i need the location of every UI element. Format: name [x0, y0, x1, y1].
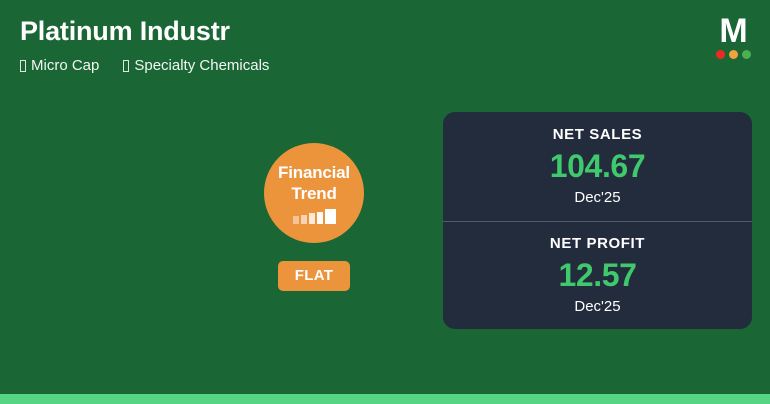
- tag-market-cap: Micro Cap: [20, 57, 99, 74]
- trend-bar: [309, 213, 315, 224]
- stat-period: Dec'25: [574, 298, 620, 316]
- logo-letter-m: M: [711, 16, 755, 46]
- status-badge: FLAT: [278, 261, 350, 291]
- header: Platinum Industr Micro Cap Specialty Che…: [0, 0, 770, 96]
- trend-title-line-1: Financial: [278, 162, 350, 183]
- tag-sector-label: Specialty Chemicals: [134, 57, 269, 74]
- tag-sector: Specialty Chemicals: [123, 57, 269, 74]
- orange-dot: [729, 50, 738, 59]
- page-title: Platinum Industr: [20, 16, 230, 47]
- stat-label: NET SALES: [553, 126, 643, 144]
- financial-trend-circle: Financial Trend: [264, 143, 364, 243]
- trend-bar: [317, 212, 323, 224]
- stat-value: 12.57: [558, 256, 636, 294]
- moneycontrol-logo: M: [711, 16, 755, 62]
- trend-bar: [293, 216, 299, 224]
- red-dot: [716, 50, 725, 59]
- logo-dots: [711, 50, 755, 59]
- trend-bar: [301, 215, 307, 224]
- bar-chart-icon: [293, 209, 336, 224]
- stat-label: NET PROFIT: [550, 235, 645, 253]
- stat-net-profit: NET PROFIT 12.57 Dec'25: [443, 221, 752, 330]
- stat-period: Dec'25: [574, 189, 620, 207]
- stat-net-sales: NET SALES 104.67 Dec'25: [443, 112, 752, 221]
- footer-accent-bar: [0, 394, 770, 404]
- trend-bar: [325, 209, 336, 224]
- tag-row: Micro Cap Specialty Chemicals: [20, 57, 269, 74]
- stat-value: 104.67: [550, 147, 645, 185]
- trend-title-line-2: Trend: [291, 183, 336, 204]
- stats-card: NET SALES 104.67 Dec'25 NET PROFIT 12.57…: [443, 112, 752, 329]
- tag-market-cap-label: Micro Cap: [31, 57, 99, 74]
- tofu-glyph-icon: [123, 60, 129, 72]
- green-dot: [742, 50, 751, 59]
- stock-summary-card: Platinum Industr Micro Cap Specialty Che…: [0, 0, 770, 404]
- tofu-glyph-icon: [20, 60, 26, 72]
- financial-trend-indicator: Financial Trend FLAT: [264, 143, 364, 291]
